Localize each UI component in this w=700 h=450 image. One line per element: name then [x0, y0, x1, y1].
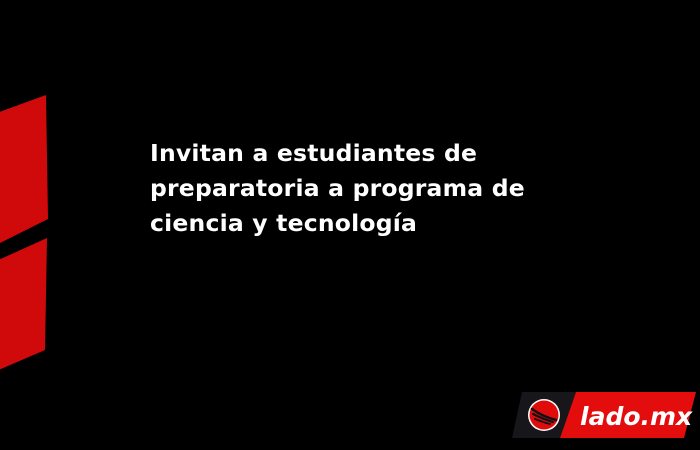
red-chevron-upper — [0, 95, 48, 246]
article-thumbnail-card: Invitan a estudiantes de preparatoria a … — [0, 0, 700, 450]
red-chevron-marks-svg — [0, 0, 60, 450]
lado-mx-logo-svg: lado.mx — [512, 392, 696, 438]
page-title: Invitan a estudiantes de preparatoria a … — [150, 136, 530, 241]
red-chevron-marks — [0, 0, 60, 450]
red-chevron-lower — [0, 238, 47, 372]
logo-wordmark: lado.mx — [580, 402, 693, 431]
lado-mx-logo[interactable]: lado.mx — [512, 392, 696, 438]
lado-circle-swoosh-icon — [528, 399, 560, 431]
